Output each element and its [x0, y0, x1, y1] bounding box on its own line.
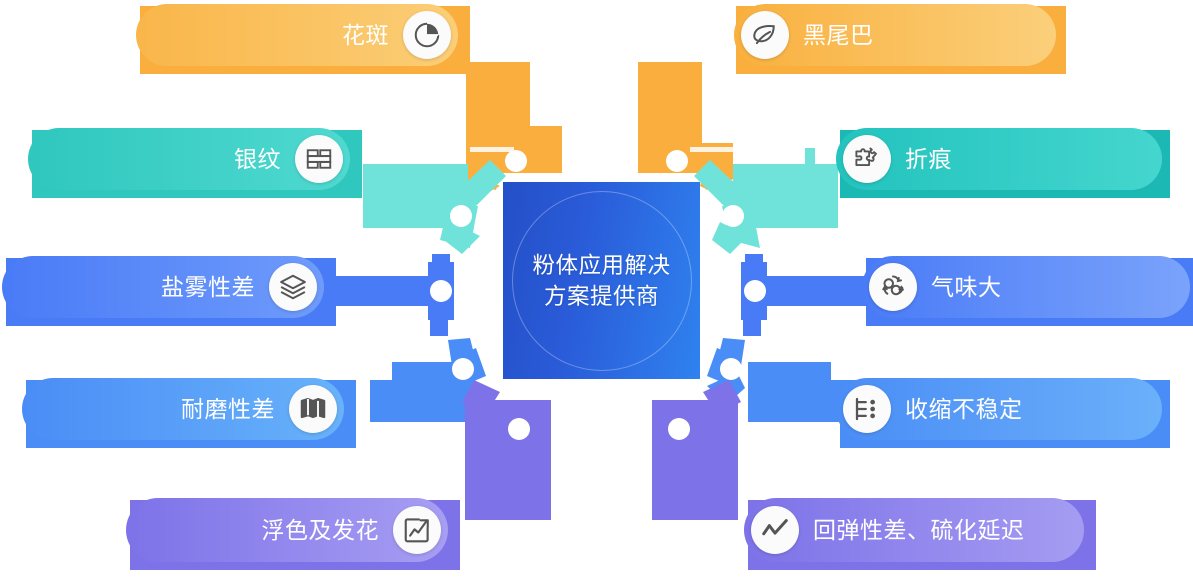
book-map-icon	[289, 385, 337, 433]
connector-dot-hui-tan-xing	[668, 418, 690, 440]
badge-label-shou-suo: 收缩不稳定	[905, 398, 1023, 421]
badge-label-qi-wei-da: 气味大	[931, 276, 1002, 299]
badge-yan-wu-xing-cha[interactable]: 盐雾性差	[2, 256, 324, 318]
trend-box-icon	[393, 506, 441, 554]
badge-hua-ban[interactable]: 花斑	[136, 4, 458, 66]
connector-dot-qi-wei-da	[744, 280, 766, 302]
connector-yin-wen	[363, 160, 506, 254]
infographic-canvas: 粉体应用解决 方案提供商 花斑 黑尾巴 银纹	[0, 0, 1193, 577]
connector-dot-hua-ban	[505, 150, 527, 172]
brick-wall-icon	[295, 135, 343, 183]
puzzle-icon	[843, 135, 891, 183]
badge-label-yin-wen: 银纹	[234, 148, 281, 171]
badge-label-hua-ban: 花斑	[342, 24, 389, 47]
badge-qi-wei-da[interactable]: 气味大	[862, 256, 1190, 318]
badge-label-fu-se-fa-hua: 浮色及发花	[262, 519, 380, 542]
badge-fu-se-fa-hua[interactable]: 浮色及发花	[126, 498, 448, 562]
badge-label-hei-wei-ba: 黑尾巴	[803, 24, 874, 47]
connector-dot-yan-wu-xing-cha	[430, 280, 452, 302]
badge-yin-wen[interactable]: 银纹	[28, 128, 350, 190]
pie-chart-icon	[403, 11, 451, 59]
badge-label-zhe-hen: 折痕	[905, 148, 952, 171]
recycle-icon	[869, 263, 917, 311]
connector-dot-yin-wen	[450, 205, 472, 227]
badge-label-yan-wu-xing-cha: 盐雾性差	[161, 276, 255, 299]
line-chart-icon	[751, 506, 799, 554]
center-node: 粉体应用解决 方案提供商	[503, 182, 700, 379]
connector-dot-fu-se-fa-hua	[508, 418, 530, 440]
connector-dot-nai-mo-xing-cha	[452, 358, 474, 380]
badge-shou-suo[interactable]: 收缩不稳定	[836, 378, 1162, 440]
badge-hei-wei-ba[interactable]: 黑尾巴	[734, 4, 1056, 66]
badge-zhe-hen[interactable]: 折痕	[836, 128, 1162, 190]
connector-dot-shou-suo	[720, 358, 742, 380]
leaf-icon	[741, 11, 789, 59]
layers-icon	[269, 263, 317, 311]
center-label: 粉体应用解决 方案提供商	[532, 250, 670, 312]
connector-dot-hei-wei-ba	[666, 150, 688, 172]
connector-fu-se-fa-hua	[462, 380, 551, 520]
badge-nai-mo-xing-cha[interactable]: 耐磨性差	[22, 378, 344, 440]
sitemap-icon	[843, 385, 891, 433]
badge-label-nai-mo-xing-cha: 耐磨性差	[181, 398, 275, 421]
badge-hui-tan-xing[interactable]: 回弹性差、硫化延迟	[744, 498, 1084, 562]
badge-label-hui-tan-xing: 回弹性差、硫化延迟	[813, 519, 1025, 542]
connector-dot-zhe-hen	[722, 205, 744, 227]
connector-hui-tan-xing	[652, 380, 741, 520]
